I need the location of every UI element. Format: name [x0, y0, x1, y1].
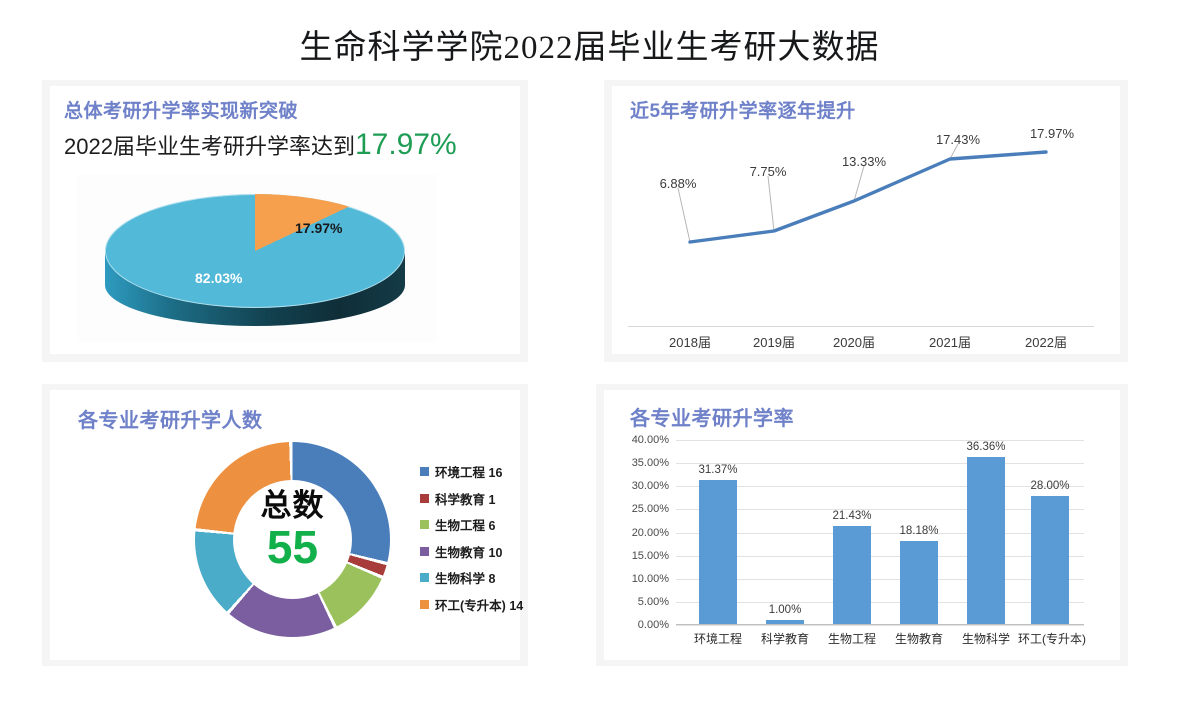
- gridline-40: 40.00%: [676, 440, 1084, 441]
- legend-item-huanjinggongcheng[interactable]: 环境工程 16: [420, 462, 560, 481]
- bar-value-label-shengwugongcheng: 21.43%: [832, 510, 871, 522]
- trend-xtick-2022: 2022届: [1025, 332, 1067, 351]
- trend-point-label-2022: 17.97%: [1030, 126, 1074, 141]
- gridline-20: 20.00%: [676, 533, 1084, 534]
- rates-bar-chart: 0.00% 5.00% 10.00% 15.00% 20.00% 25.00% …: [676, 440, 1084, 625]
- gridline-15: 15.00%: [676, 556, 1084, 557]
- bar-chart-baseline: [676, 624, 1084, 625]
- bar-huanjinggongcheng[interactable]: [699, 480, 737, 625]
- gridline-30: 30.00%: [676, 486, 1084, 487]
- panel-overall-rate: 总体考研升学率实现新突破 2022届毕业生考研升学率达到17.97% 17.97…: [50, 86, 520, 354]
- ytick-label-25: 25.00%: [632, 503, 669, 515]
- pie-slice-label-other: 82.03%: [195, 270, 242, 286]
- overall-pie-chart: 17.97% 82.03%: [77, 174, 437, 342]
- legend-swatch-icon: [420, 573, 429, 582]
- trend-xtick-2021: 2021届: [929, 332, 971, 351]
- panel-trend: 近5年考研升学率逐年提升 6.88% 7.75% 13.33% 17.43% 1…: [612, 86, 1120, 354]
- bar-value-label-shengwukexue: 36.36%: [966, 441, 1005, 453]
- legend-item-shengwukexue[interactable]: 生物科学 8: [420, 568, 560, 587]
- legend-label: 生物科学 8: [435, 568, 495, 587]
- donut-center-text: 总数 55: [195, 490, 390, 571]
- overall-kpi-line: 2022届毕业生考研升学率达到17.97%: [64, 128, 457, 162]
- donut-center-value: 55: [195, 523, 390, 571]
- ytick-label-40: 40.00%: [632, 434, 669, 446]
- gridline-10: 10.00%: [676, 579, 1084, 580]
- gridline-0: 0.00%: [676, 625, 1084, 626]
- bar-value-label-huanjinggongcheng: 31.37%: [698, 464, 737, 476]
- pie-slice-label-enrolled: 17.97%: [295, 220, 342, 236]
- panel-counts: 各专业考研升学人数 总数 55 环境工程 16 科学教育 1 生物工程 6 生物…: [50, 390, 520, 660]
- panel-rates: 各专业考研升学率 0.00% 5.00% 10.00% 15.00% 20.00…: [604, 390, 1120, 660]
- legend-swatch-icon: [420, 547, 429, 556]
- panel-rates-heading: 各专业考研升学率: [630, 402, 794, 431]
- gridline-5: 5.00%: [676, 602, 1084, 603]
- panel-trend-heading: 近5年考研升学率逐年提升: [630, 96, 856, 123]
- trend-xtick-2018: 2018届: [669, 332, 711, 351]
- panel-counts-heading: 各专业考研升学人数: [78, 404, 263, 433]
- legend-label: 环工(专升本) 14: [435, 595, 523, 614]
- legend-item-huangong-zhuanshengben[interactable]: 环工(专升本) 14: [420, 595, 560, 614]
- ytick-label-20: 20.00%: [632, 527, 669, 539]
- counts-donut-chart: 总数 55: [195, 442, 390, 637]
- trend-line-chart: 6.88% 7.75% 13.33% 17.43% 17.97%: [628, 126, 1106, 316]
- bar-shengwugongcheng[interactable]: [833, 526, 871, 625]
- trend-point-label-2021: 17.43%: [936, 132, 980, 147]
- pie-3d-graphic: 17.97% 82.03%: [105, 182, 405, 332]
- legend-swatch-icon: [420, 520, 429, 529]
- bar-xlabel-shengwugongcheng: 生物工程: [828, 630, 876, 647]
- trend-leader-lines: [678, 144, 958, 242]
- panel-overall-heading: 总体考研升学率实现新突破: [64, 96, 298, 123]
- trend-point-label-2020: 13.33%: [842, 154, 886, 169]
- page-title: 生命科学学院2022届毕业生考研大数据: [0, 20, 1179, 68]
- bar-shengwukexue[interactable]: [967, 457, 1005, 625]
- legend-swatch-icon: [420, 494, 429, 503]
- trend-xtick-2020: 2020届: [833, 332, 875, 351]
- ytick-label-15: 15.00%: [632, 550, 669, 562]
- bar-value-label-kexuejiaoyu: 1.00%: [769, 604, 802, 616]
- ytick-label-0: 0.00%: [638, 619, 669, 631]
- overall-kpi-value: 17.97%: [355, 128, 457, 161]
- trend-point-label-2018: 6.88%: [660, 176, 697, 191]
- ytick-label-5: 5.00%: [638, 596, 669, 608]
- legend-item-kexuejiaoyu[interactable]: 科学教育 1: [420, 489, 560, 508]
- pie-3d-top-face: [105, 194, 405, 308]
- ytick-label-35: 35.00%: [632, 457, 669, 469]
- ytick-label-30: 30.00%: [632, 480, 669, 492]
- bar-xlabel-shengwujiaoyu: 生物教育: [895, 630, 943, 647]
- legend-swatch-icon: [420, 600, 429, 609]
- bar-shengwujiaoyu[interactable]: [900, 541, 938, 625]
- bar-xlabel-huangong-zhuanshengben: 环工(专升本): [1018, 630, 1086, 647]
- bar-value-label-shengwujiaoyu: 18.18%: [899, 525, 938, 537]
- legend-label: 科学教育 1: [435, 489, 495, 508]
- bar-xlabel-kexuejiaoyu: 科学教育: [761, 630, 809, 647]
- bar-value-label-huangong-zhuanshengben: 28.00%: [1030, 480, 1069, 492]
- trend-x-axis-line: [628, 326, 1094, 327]
- bar-xlabel-shengwukexue: 生物科学: [962, 630, 1010, 647]
- bar-huangong-zhuanshengben[interactable]: [1031, 496, 1069, 626]
- donut-center-label: 总数: [195, 490, 390, 523]
- trend-xtick-2019: 2019届: [753, 332, 795, 351]
- counts-legend: 环境工程 16 科学教育 1 生物工程 6 生物教育 10 生物科学 8 环工(…: [420, 462, 560, 621]
- legend-item-shengwujiaoyu[interactable]: 生物教育 10: [420, 542, 560, 561]
- ytick-label-10: 10.00%: [632, 573, 669, 585]
- legend-label: 生物工程 6: [435, 515, 495, 534]
- legend-item-shengwugongcheng[interactable]: 生物工程 6: [420, 515, 560, 534]
- trend-point-label-2019: 7.75%: [750, 164, 787, 179]
- bar-xlabel-huanjinggongcheng: 环境工程: [694, 630, 742, 647]
- gridline-25: 25.00%: [676, 509, 1084, 510]
- overall-kpi-prefix: 2022届毕业生考研升学率达到: [64, 134, 355, 159]
- legend-label: 生物教育 10: [435, 542, 502, 561]
- legend-swatch-icon: [420, 467, 429, 476]
- legend-label: 环境工程 16: [435, 462, 502, 481]
